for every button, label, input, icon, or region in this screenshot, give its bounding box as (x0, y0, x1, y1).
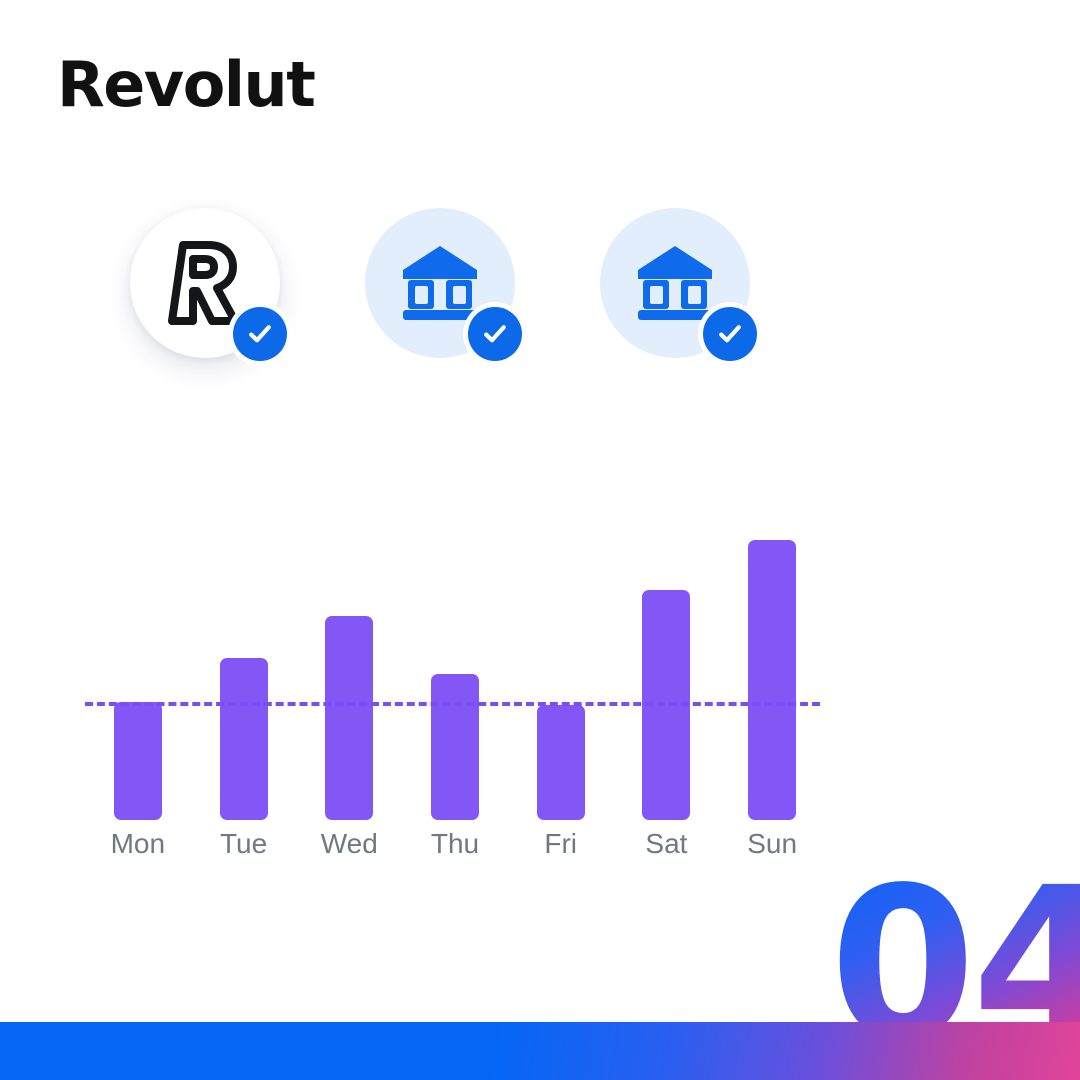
chart-bar[interactable] (431, 674, 479, 820)
verified-badge (698, 302, 762, 366)
chart-bar[interactable] (537, 705, 585, 820)
chart-bar[interactable] (220, 658, 268, 820)
weekly-bar-chart: MonTueWedThuFriSatSun (0, 540, 1080, 880)
chart-x-label: Wed (304, 828, 394, 860)
check-icon (480, 319, 510, 349)
verified-badge (228, 302, 292, 366)
chart-x-label: Tue (199, 828, 289, 860)
chart-x-axis-labels: MonTueWedThuFriSatSun (85, 828, 825, 868)
chart-plot-area (85, 540, 825, 820)
check-circle (468, 307, 522, 361)
check-icon (245, 319, 275, 349)
chart-bar[interactable] (748, 540, 796, 820)
account-badge-revolut[interactable] (130, 208, 280, 358)
chart-x-label: Thu (410, 828, 500, 860)
chart-x-label: Sun (727, 828, 817, 860)
chart-bar[interactable] (114, 702, 162, 820)
reference-line (85, 702, 820, 706)
check-circle (703, 307, 757, 361)
check-icon (715, 319, 745, 349)
slide-canvas: Revolut (0, 0, 1080, 1080)
chart-bar[interactable] (325, 616, 373, 820)
footer-gradient-bar (0, 1022, 1080, 1080)
account-badge-row (130, 208, 750, 358)
chart-x-label: Sat (621, 828, 711, 860)
chart-x-label: Mon (93, 828, 183, 860)
check-circle (233, 307, 287, 361)
verified-badge (463, 302, 527, 366)
chart-x-label: Fri (516, 828, 606, 860)
bank-icon (399, 244, 481, 322)
bank-icon (634, 244, 716, 322)
account-badge-bank-1[interactable] (365, 208, 515, 358)
brand-wordmark: Revolut (57, 54, 314, 116)
account-badge-bank-2[interactable] (600, 208, 750, 358)
